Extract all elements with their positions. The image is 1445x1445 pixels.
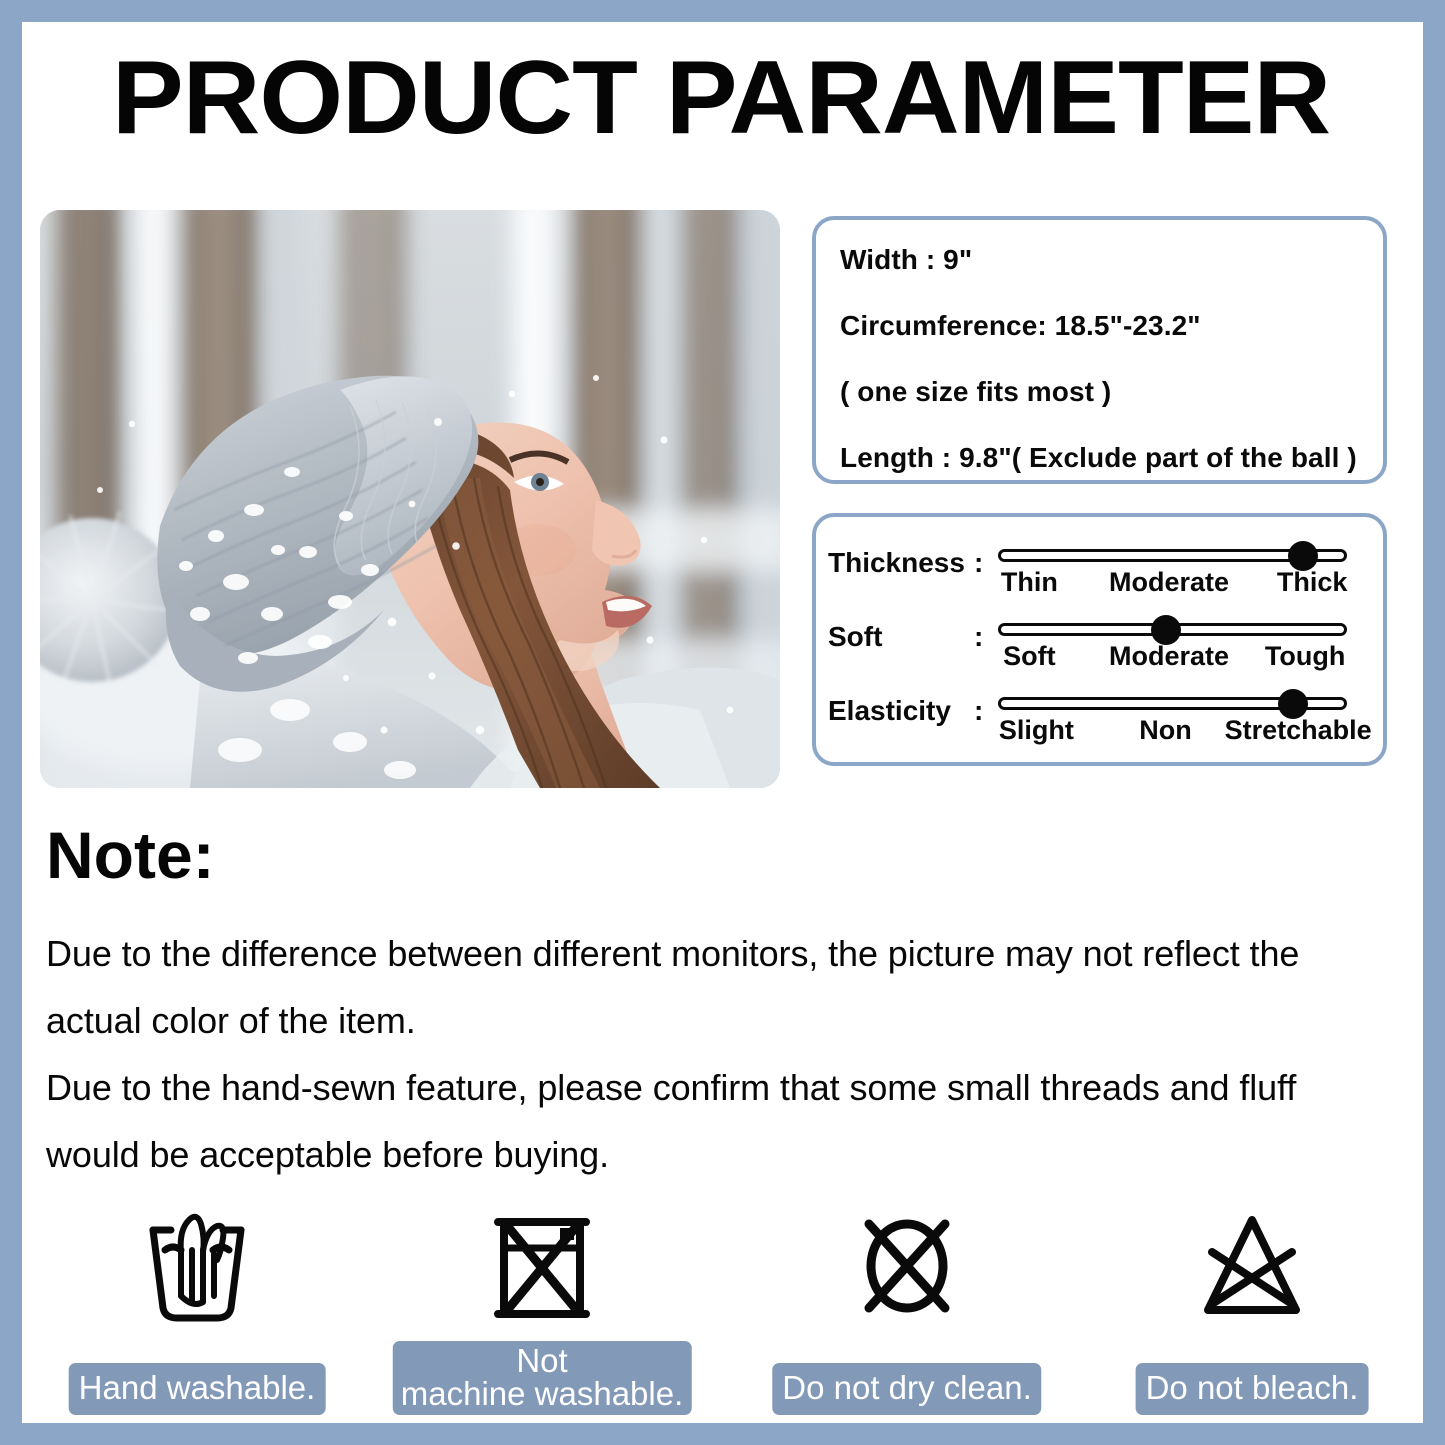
slider-track-wrap-elasticity: Slight Non Stretchable: [998, 685, 1347, 749]
note-body: Due to the difference between different …: [46, 920, 1391, 1188]
slider-tick-slight: Slight: [999, 715, 1074, 746]
slider-track-elasticity[interactable]: [998, 697, 1347, 710]
spec-length: Length : 9.8"( Exclude part of the ball …: [840, 444, 1373, 472]
care-label-not-machine-washable: Not machine washable.: [393, 1341, 692, 1415]
care-label-no-bleach: Do not bleach.: [1136, 1363, 1369, 1415]
slider-label-elasticity: Elasticity: [828, 695, 968, 727]
hand-wash-basin-icon: [137, 1204, 257, 1328]
slider-row-thickness: Thickness : Thin Moderate Thick: [828, 537, 1377, 611]
care-item-not-machine-washable: Not machine washable.: [377, 1182, 707, 1423]
care-label-line2: machine washable.: [401, 1377, 684, 1410]
care-label-no-dry-clean: Do not dry clean.: [772, 1363, 1041, 1415]
slider-tick-moderate-soft: Moderate: [1109, 641, 1229, 672]
slider-colon-elasticity: :: [974, 695, 983, 727]
slider-label-soft: Soft: [828, 621, 968, 653]
slider-track-wrap-thickness: Thin Moderate Thick: [998, 537, 1347, 601]
no-bleach-icon: [1192, 1204, 1312, 1328]
slider-track-soft[interactable]: [998, 623, 1347, 636]
spec-width: Width : 9": [840, 246, 1373, 274]
slider-track-wrap-soft: Soft Moderate Tough: [998, 611, 1347, 675]
slider-tick-moderate: Moderate: [1109, 567, 1229, 598]
slider-colon-thickness: :: [974, 547, 983, 579]
care-label-hand-washable: Hand washable.: [69, 1363, 326, 1415]
care-label-line1: Not: [401, 1344, 684, 1377]
no-dry-clean-icon: [847, 1204, 967, 1328]
note-line-2: actual color of the item.: [46, 987, 1391, 1054]
slider-ticks-elasticity: Slight Non Stretchable: [998, 715, 1347, 749]
slider-row-soft: Soft : Soft Moderate Tough: [828, 611, 1377, 685]
care-instructions-row: Hand washable. Not machine washable.: [22, 1182, 1423, 1423]
slider-knob-elasticity[interactable]: [1278, 689, 1308, 719]
note-line-3: Due to the hand-sewn feature, please con…: [46, 1054, 1391, 1121]
specifications-box: Width : 9" Circumference: 18.5"-23.2" ( …: [812, 216, 1387, 484]
slider-ticks-soft: Soft Moderate Tough: [998, 641, 1347, 675]
spec-size-note: ( one size fits most ): [840, 378, 1373, 406]
product-parameter-infographic: PRODUCT PARAMETER: [0, 0, 1445, 1445]
slider-track-thickness[interactable]: [998, 549, 1347, 562]
slider-tick-thick: Thick: [1277, 567, 1348, 598]
slider-tick-non: Non: [1139, 715, 1191, 746]
slider-colon-soft: :: [974, 621, 983, 653]
attribute-sliders-list: Thickness : Thin Moderate Thick Soft :: [828, 537, 1377, 759]
note-line-1: Due to the difference between different …: [46, 920, 1391, 987]
note-line-4: would be acceptable before buying.: [46, 1121, 1391, 1188]
specifications-list: Width : 9" Circumference: 18.5"-23.2" ( …: [840, 246, 1373, 472]
spec-circumference: Circumference: 18.5"-23.2": [840, 312, 1373, 340]
slider-row-elasticity: Elasticity : Slight Non Stretchable: [828, 685, 1377, 759]
care-item-no-bleach: Do not bleach.: [1087, 1182, 1417, 1423]
note-heading: Note:: [46, 822, 215, 888]
no-machine-wash-icon: [482, 1204, 602, 1328]
slider-knob-soft[interactable]: [1151, 615, 1181, 645]
slider-knob-thickness[interactable]: [1288, 541, 1318, 571]
care-item-hand-washable: Hand washable.: [32, 1182, 362, 1423]
care-item-no-dry-clean: Do not dry clean.: [742, 1182, 1072, 1423]
slider-tick-soft: Soft: [1003, 641, 1055, 672]
slider-tick-tough: Tough: [1265, 641, 1345, 672]
slider-ticks-thickness: Thin Moderate Thick: [998, 567, 1347, 601]
product-photo: [40, 210, 780, 788]
page-title: PRODUCT PARAMETER: [12, 46, 1430, 150]
attribute-sliders-box: Thickness : Thin Moderate Thick Soft :: [812, 513, 1387, 766]
product-photo-illustration: [40, 210, 780, 788]
slider-tick-thin: Thin: [1001, 567, 1058, 598]
slider-label-thickness: Thickness: [828, 547, 968, 579]
slider-tick-stretchable: Stretchable: [1225, 715, 1372, 746]
